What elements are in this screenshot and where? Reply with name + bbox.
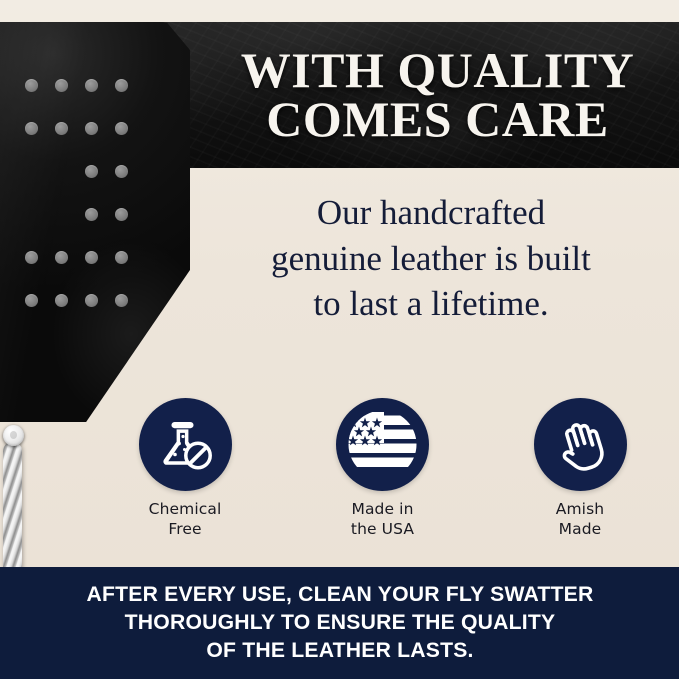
product-infographic-poster: WITH QUALITY COMES CARE Our handcrafted … <box>0 0 679 679</box>
paddle-hole <box>85 251 98 264</box>
paddle-hole <box>115 251 128 264</box>
paddle-hole <box>115 208 128 221</box>
paddle-hole <box>55 251 68 264</box>
paddle-hole <box>85 208 98 221</box>
paddle-hole <box>115 165 128 178</box>
flask-no-chemicals-icon <box>154 414 216 476</box>
headline-line-2: COMES CARE <box>266 95 609 145</box>
paddle-hole <box>85 294 98 307</box>
paddle-hole <box>55 79 68 92</box>
paddle-hole <box>25 122 38 135</box>
paddle-hole <box>85 79 98 92</box>
badge-made-in-usa: Made in the USA <box>308 398 458 540</box>
badge-amish-made: Amish Made <box>505 398 655 540</box>
statement-line-3: to last a lifetime. <box>196 281 666 327</box>
usa-flag-icon <box>336 398 429 491</box>
care-instructions-banner: AFTER EVERY USE, CLEAN YOUR FLY SWATTER … <box>0 567 679 679</box>
badge-circle <box>534 398 627 491</box>
headline-line-1: WITH QUALITY <box>241 46 635 96</box>
open-hand-icon <box>548 413 612 477</box>
statement-line-2: genuine leather is built <box>196 236 666 282</box>
paddle-hole <box>55 294 68 307</box>
statement-block: Our handcrafted genuine leather is built… <box>196 190 666 327</box>
badge-label: Made in the USA <box>351 500 414 540</box>
badge-circle <box>336 398 429 491</box>
paddle-hole <box>85 165 98 178</box>
header-text-block: WITH QUALITY COMES CARE <box>196 22 679 168</box>
statement-line-1: Our handcrafted <box>196 190 666 236</box>
badge-chemical-free: Chemical Free <box>110 398 260 540</box>
trust-badges-row: Chemical Free <box>110 398 655 540</box>
paddle-hole <box>25 79 38 92</box>
paddle-hole <box>85 122 98 135</box>
paddle-hole <box>25 251 38 264</box>
paddle-hole <box>115 294 128 307</box>
badge-label: Chemical Free <box>149 500 222 540</box>
badge-label: Amish Made <box>556 500 604 540</box>
paddle-perforation-holes <box>0 22 190 422</box>
paddle-hole <box>55 122 68 135</box>
paddle-hole <box>25 294 38 307</box>
paddle-hole <box>115 122 128 135</box>
care-instructions-text: AFTER EVERY USE, CLEAN YOUR FLY SWATTER … <box>24 581 654 665</box>
paddle-rivet-icon <box>3 425 24 446</box>
paddle-hole <box>115 79 128 92</box>
badge-circle <box>139 398 232 491</box>
